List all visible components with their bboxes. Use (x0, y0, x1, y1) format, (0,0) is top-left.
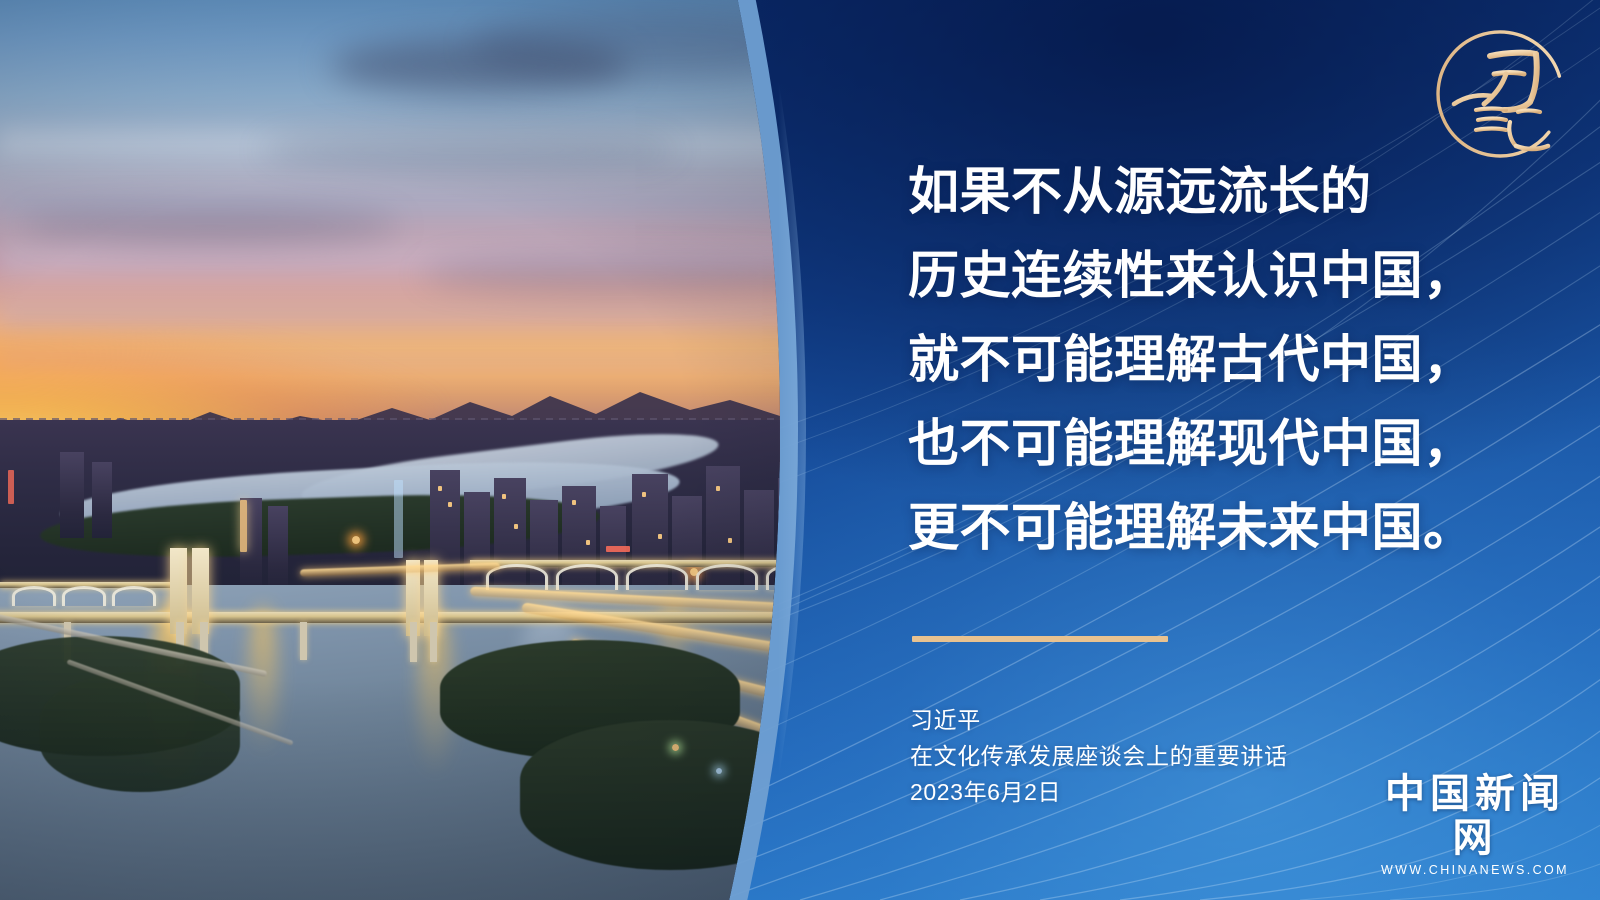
poster-canvas: 如果不从源远流长的 历史连续性来认识中国， 就不可能理解古代中国， 也不可能理解… (0, 0, 1600, 900)
attribution-speaker: 习近平 (910, 702, 1288, 738)
quote-line: 也不可能理解现代中国， (908, 402, 1548, 486)
chinanews-name: 中国新闻网 (1368, 772, 1582, 860)
photo-clip-region (0, 0, 820, 900)
gold-divider-rule (912, 636, 1168, 642)
chinanews-url: WWW.CHINANEWS.COM (1368, 862, 1582, 878)
chinanews-logo: 中国新闻网 WWW.CHINANEWS.COM (1368, 772, 1582, 838)
xi-yan-dao-seal-logo (1432, 26, 1568, 162)
photo-vignette (0, 0, 820, 900)
quote-text: 如果不从源远流长的 历史连续性来认识中国， 就不可能理解古代中国， 也不可能理解… (908, 150, 1548, 570)
quote-line: 就不可能理解古代中国， (908, 318, 1548, 402)
quote-line: 如果不从源远流长的 (908, 150, 1548, 234)
attribution-date: 2023年6月2日 (910, 774, 1288, 810)
quote-line: 更不可能理解未来中国。 (908, 486, 1548, 570)
attribution-block: 习近平 在文化传承发展座谈会上的重要讲话 2023年6月2日 (910, 702, 1288, 810)
quote-line: 历史连续性来认识中国， (908, 234, 1548, 318)
city-river-dusk-photo (0, 0, 820, 900)
attribution-occasion: 在文化传承发展座谈会上的重要讲话 (910, 738, 1288, 774)
